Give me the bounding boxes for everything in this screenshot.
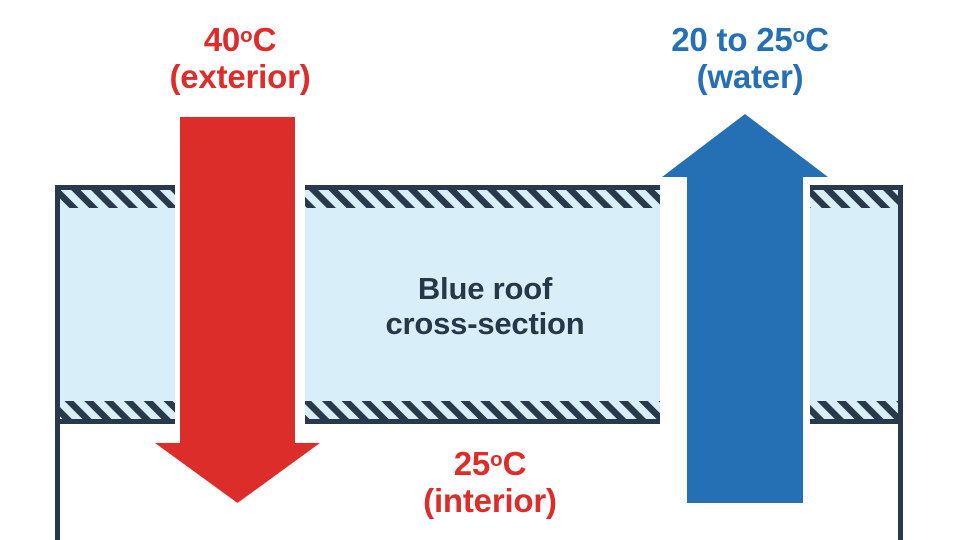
blue-arrow-right-gap [803, 180, 810, 430]
label-interior-temperature: 25oC (interior) [350, 446, 630, 520]
right-slab-bottom-line [810, 419, 903, 424]
center-slab-top-line [305, 185, 660, 190]
label-cross-section-line2: cross-section [330, 307, 640, 342]
left-slab-top-line [55, 185, 175, 190]
degree-symbol-icon: o [793, 24, 805, 47]
label-exterior-temperature: 40oC (exterior) [100, 22, 380, 96]
right-slab-segment [810, 185, 903, 424]
red-arrow-right-gap [295, 180, 305, 430]
left-slab-segment [55, 185, 175, 424]
label-water-line2: (water) [600, 59, 900, 96]
degree-symbol-icon: o [240, 24, 252, 47]
right-slab-top-hatch [810, 189, 903, 208]
left-support-line [55, 185, 60, 540]
center-slab-bottom-line [305, 419, 660, 424]
diagram-canvas: 40oC (exterior) 20 to 25oC (water) 25oC … [0, 0, 960, 540]
center-slab-top-hatch [305, 189, 660, 208]
label-exterior-line2: (exterior) [100, 59, 380, 96]
label-interior-unit: C [503, 445, 527, 482]
label-interior-line2: (interior) [350, 483, 630, 520]
label-water-temperature: 20 to 25oC (water) [600, 22, 900, 96]
center-slab-bottom-hatch [305, 401, 660, 420]
right-slab-top-line [810, 185, 903, 190]
right-slab-fill [810, 187, 903, 423]
blue-arrow-left-gap [660, 180, 687, 430]
red-arrow-left-gap [175, 180, 180, 430]
right-support-line [898, 185, 903, 540]
label-cross-section: Blue roof cross-section [330, 272, 640, 341]
label-exterior-unit: C [253, 21, 277, 58]
left-slab-bottom-hatch [55, 401, 175, 420]
degree-symbol-icon: o [490, 448, 502, 471]
left-slab-top-hatch [55, 189, 175, 208]
label-water-line1: 20 to 25oC [600, 22, 900, 59]
left-slab-bottom-line [55, 419, 175, 424]
label-cross-section-line1: Blue roof [330, 272, 640, 307]
label-interior-value: 25 [454, 445, 490, 482]
label-exterior-line1: 40oC [100, 22, 380, 59]
label-water-value: 20 to 25 [671, 21, 792, 58]
label-interior-line1: 25oC [350, 446, 630, 483]
label-water-unit: C [805, 21, 829, 58]
right-slab-bottom-hatch [810, 401, 903, 420]
label-exterior-value: 40 [204, 21, 240, 58]
left-slab-fill [55, 187, 175, 423]
